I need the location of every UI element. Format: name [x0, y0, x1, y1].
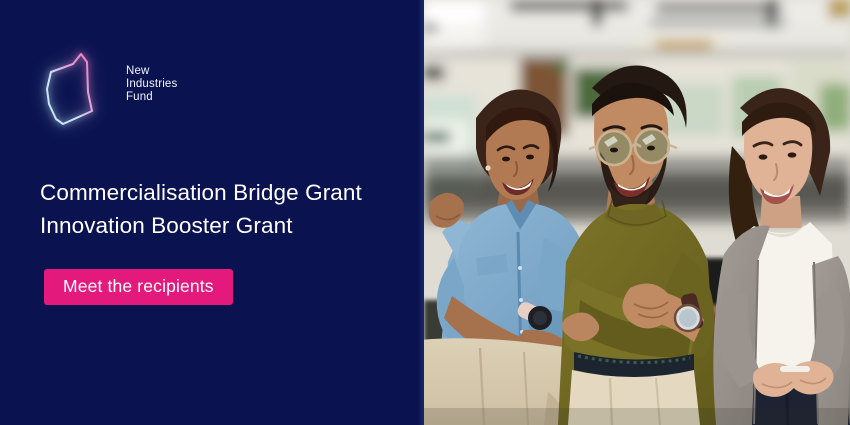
navy-content-panel: New Industries Fund Commercialisation Br… — [0, 0, 424, 425]
headline-line-1: Commercialisation Bridge Grant — [40, 176, 410, 209]
office-team-photo — [424, 0, 850, 425]
logo-wordmark: New Industries Fund — [126, 65, 177, 105]
headline-group: Commercialisation Bridge Grant Innovatio… — [40, 176, 410, 242]
western-australia-map-icon — [40, 42, 112, 130]
meet-the-recipients-button[interactable]: Meet the recipients — [44, 269, 233, 305]
promo-banner: New Industries Fund Commercialisation Br… — [0, 0, 850, 425]
new-industries-fund-logo[interactable]: New Industries Fund — [40, 42, 190, 130]
headline-line-2: Innovation Booster Grant — [40, 209, 410, 242]
